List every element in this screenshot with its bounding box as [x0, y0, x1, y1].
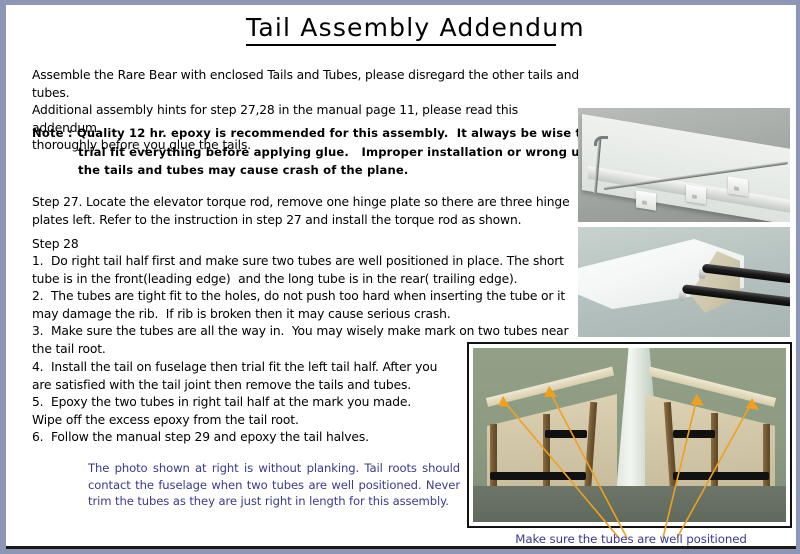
page-background: Tail Assembly Addendum Assemble the Rare…	[0, 0, 800, 554]
photo3-rib	[490, 424, 497, 494]
photo3-floor-shadow	[473, 486, 786, 522]
photo3-rib	[711, 413, 718, 493]
photo3-rib	[543, 414, 550, 494]
tail-roots-fuselage-photo	[473, 348, 786, 522]
note-line-1: Note : Quality 12 hr. epoxy is recommend…	[32, 124, 584, 143]
photo3-right-tail-root	[645, 394, 775, 494]
photo3-tube-rear	[490, 472, 586, 480]
photo1-hinge-plate	[686, 184, 706, 204]
note-block: Note : Quality 12 hr. epoxy is recommend…	[32, 124, 584, 180]
title-underline	[246, 44, 556, 46]
tail-half-tubes-photo	[578, 227, 790, 337]
photo1-hinge-plate	[728, 176, 748, 196]
document-sheet: Tail Assembly Addendum Assemble the Rare…	[6, 5, 796, 549]
photo3-left-tail-root	[487, 394, 617, 494]
note-line-2: trial fit everything before applying glu…	[32, 143, 584, 162]
photo3-rib	[763, 424, 770, 494]
page-title: Tail Assembly Addendum	[246, 15, 566, 41]
note-line-3: the tails and tubes may cause crash of t…	[32, 161, 584, 180]
photo1-torque-rod-elbow	[594, 136, 608, 146]
photo1-hinge-plate	[636, 190, 656, 210]
step-28-heading: Step 28	[32, 236, 584, 254]
photo3-tube-front	[545, 430, 587, 438]
photo3-tube-front	[673, 430, 715, 438]
page-title-block: Tail Assembly Addendum	[246, 15, 566, 46]
photo-caption: Make sure the tubes are well positioned	[466, 532, 796, 546]
step-28-items-bottom: 4. Install the tail on fuselage then tri…	[32, 359, 484, 447]
step-27-paragraph: Step 27. Locate the elevator torque rod,…	[32, 194, 584, 229]
blue-side-note: The photo shown at right is without plan…	[88, 460, 460, 510]
photo3-tube-rear	[673, 472, 769, 480]
elevator-torque-rod-photo	[578, 108, 790, 222]
tail-roots-photo-frame	[467, 342, 792, 528]
